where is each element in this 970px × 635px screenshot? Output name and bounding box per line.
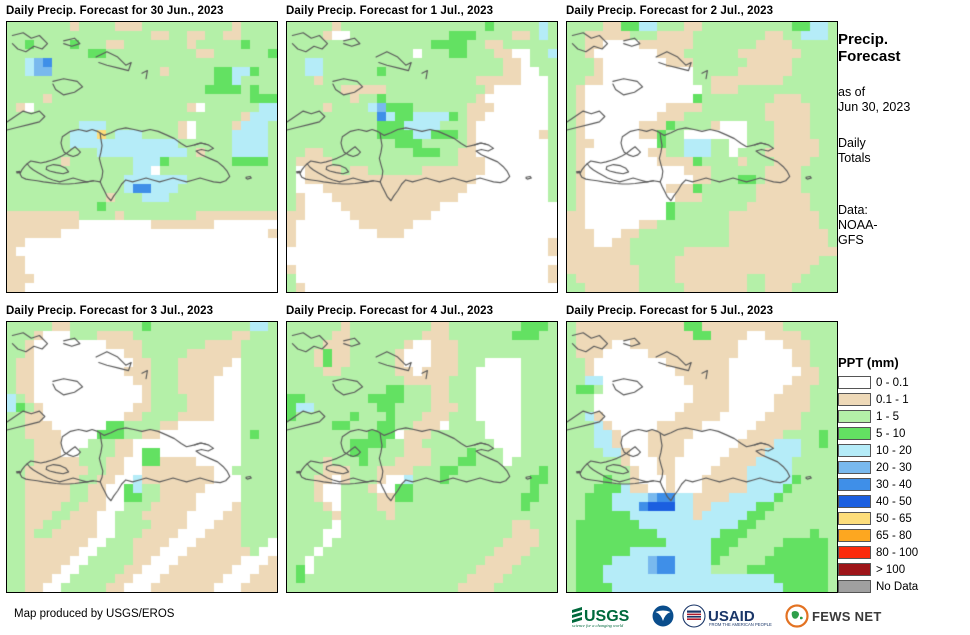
usaid-logo-icon: USAID FROM THE AMERICAN PEOPLE xyxy=(682,604,778,628)
data-source-label: Data: xyxy=(838,203,970,218)
legend-label: 10 - 20 xyxy=(876,445,912,457)
as-of-date: Jun 30, 2023 xyxy=(838,100,970,115)
legend-row: 20 - 30 xyxy=(838,459,970,476)
legend-label: 50 - 65 xyxy=(876,513,912,525)
legend-label: No Data xyxy=(876,581,918,593)
map-frame[interactable] xyxy=(286,321,558,593)
map-panel-title: Daily Precip. Forecast for 4 Jul., 2023 xyxy=(286,304,558,318)
legend-swatch xyxy=(838,410,871,423)
totals-line1: Daily xyxy=(838,136,970,151)
legend-swatch xyxy=(838,495,871,508)
legend-row: No Data xyxy=(838,578,970,595)
map-panel-title: Daily Precip. Forecast for 3 Jul., 2023 xyxy=(6,304,278,318)
legend: PPT (mm) 0 - 0.10.1 - 11 - 55 - 1010 - 2… xyxy=(838,355,970,595)
legend-row: 40 - 50 xyxy=(838,493,970,510)
map-frame[interactable] xyxy=(6,21,278,293)
map-panel-2: Daily Precip. Forecast for 2 Jul., 2023 xyxy=(566,4,838,293)
precip-grid-canvas xyxy=(567,322,837,592)
legend-row: 50 - 65 xyxy=(838,510,970,527)
usgs-logo: USGS science for a changing world xyxy=(570,604,644,628)
legend-row: 0 - 0.1 xyxy=(838,374,970,391)
noaa-logo xyxy=(651,604,675,628)
legend-swatch xyxy=(838,376,871,389)
map-panel-5: Daily Precip. Forecast for 5 Jul., 2023 xyxy=(566,304,838,593)
usgs-logo-icon: USGS science for a changing world xyxy=(570,604,644,628)
logo-strip: USGS science for a changing world USAID … xyxy=(570,601,889,631)
legend-swatch xyxy=(838,478,871,491)
precip-grid-canvas xyxy=(567,22,837,292)
map-frame[interactable] xyxy=(6,321,278,593)
legend-row: 0.1 - 1 xyxy=(838,391,970,408)
map-panel-title: Daily Precip. Forecast for 1 Jul., 2023 xyxy=(286,4,558,18)
precip-grid-canvas xyxy=(7,22,277,292)
map-frame[interactable] xyxy=(286,21,558,293)
legend-row: 10 - 20 xyxy=(838,442,970,459)
map-panel-4: Daily Precip. Forecast for 4 Jul., 2023 xyxy=(286,304,558,593)
map-panel-title: Daily Precip. Forecast for 30 Jun., 2023 xyxy=(6,4,278,18)
map-panel-1: Daily Precip. Forecast for 1 Jul., 2023 xyxy=(286,4,558,293)
map-panel-3: Daily Precip. Forecast for 3 Jul., 2023 xyxy=(6,304,278,593)
legend-label: 65 - 80 xyxy=(876,530,912,542)
data-source-line3: GFS xyxy=(838,233,970,248)
legend-label: 0.1 - 1 xyxy=(876,394,909,406)
legend-entries: 0 - 0.10.1 - 11 - 55 - 1010 - 2020 - 303… xyxy=(838,374,970,595)
legend-title: PPT (mm) xyxy=(838,355,970,370)
legend-swatch xyxy=(838,427,871,440)
legend-swatch xyxy=(838,512,871,525)
noaa-logo-icon xyxy=(651,604,675,628)
legend-swatch xyxy=(838,529,871,542)
legend-label: > 100 xyxy=(876,564,905,576)
legend-label: 0 - 0.1 xyxy=(876,377,909,389)
legend-label: 1 - 5 xyxy=(876,411,899,423)
sidebar-heading: Precip. Forecast xyxy=(838,31,970,65)
sidebar-heading-line1: Precip. xyxy=(838,31,970,48)
usaid-logo: USAID FROM THE AMERICAN PEOPLE xyxy=(682,604,778,628)
legend-row: > 100 xyxy=(838,561,970,578)
precip-grid-canvas xyxy=(7,322,277,592)
as-of-label: as of xyxy=(838,85,970,100)
legend-swatch xyxy=(838,444,871,457)
map-panel-0: Daily Precip. Forecast for 30 Jun., 2023 xyxy=(6,4,278,293)
fews-net-globe-icon xyxy=(785,604,809,628)
legend-swatch xyxy=(838,461,871,474)
map-panel-title: Daily Precip. Forecast for 2 Jul., 2023 xyxy=(566,4,838,18)
legend-label: 40 - 50 xyxy=(876,496,912,508)
legend-row: 1 - 5 xyxy=(838,408,970,425)
legend-label: 80 - 100 xyxy=(876,547,918,559)
data-source-line2: NOAA- xyxy=(838,218,970,233)
svg-text:FROM THE AMERICAN PEOPLE: FROM THE AMERICAN PEOPLE xyxy=(709,622,772,627)
legend-swatch xyxy=(838,563,871,576)
legend-swatch xyxy=(838,393,871,406)
legend-label: 30 - 40 xyxy=(876,479,912,491)
map-frame[interactable] xyxy=(566,21,838,293)
legend-swatch xyxy=(838,546,871,559)
legend-label: 5 - 10 xyxy=(876,428,905,440)
legend-label: 20 - 30 xyxy=(876,462,912,474)
totals-block: Daily Totals xyxy=(838,136,970,166)
data-source-block: Data: NOAA- GFS xyxy=(838,203,970,248)
legend-row: 30 - 40 xyxy=(838,476,970,493)
as-of-block: as of Jun 30, 2023 xyxy=(838,85,970,115)
fews-net-label: FEWS NET xyxy=(812,609,882,624)
map-credit: Map produced by USGS/EROS xyxy=(14,608,174,620)
map-panel-title: Daily Precip. Forecast for 5 Jul., 2023 xyxy=(566,304,838,318)
totals-line2: Totals xyxy=(838,151,970,166)
map-frame[interactable] xyxy=(566,321,838,593)
svg-text:science for a changing world: science for a changing world xyxy=(572,623,624,628)
sidebar-heading-line2: Forecast xyxy=(838,48,970,65)
fews-net-logo: FEWS NET xyxy=(785,604,882,628)
legend-row: 80 - 100 xyxy=(838,544,970,561)
precip-grid-canvas xyxy=(287,22,557,292)
legend-swatch xyxy=(838,580,871,593)
legend-row: 65 - 80 xyxy=(838,527,970,544)
legend-row: 5 - 10 xyxy=(838,425,970,442)
precip-grid-canvas xyxy=(287,322,557,592)
